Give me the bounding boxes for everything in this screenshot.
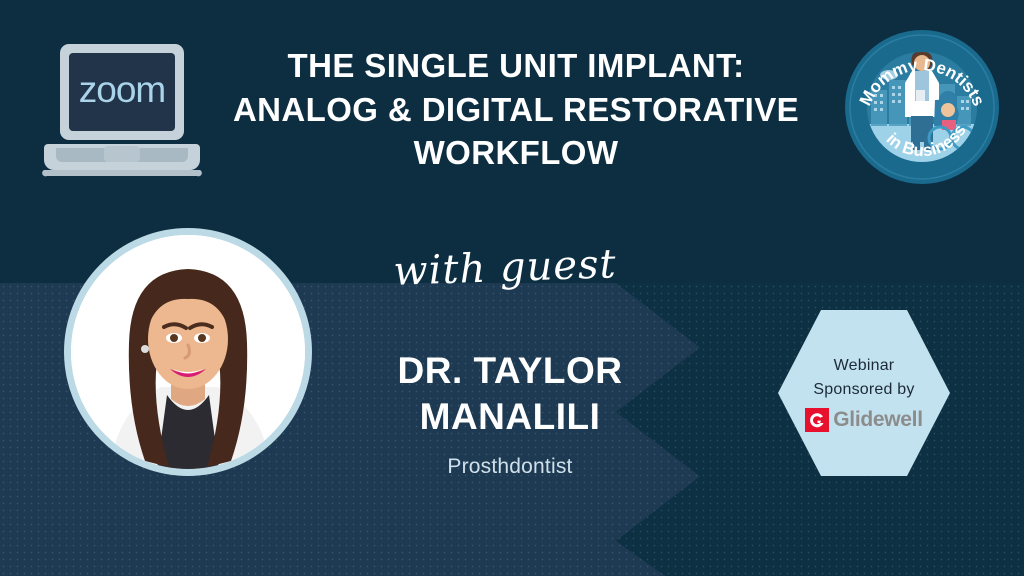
guest-name-line-2: MANALILI xyxy=(330,394,690,440)
page-title: THE SINGLE UNIT IMPLANT: ANALOG & DIGITA… xyxy=(196,44,836,175)
title-line-1: THE SINGLE UNIT IMPLANT: xyxy=(196,44,836,88)
glidewell-g-mark-icon xyxy=(805,408,829,432)
svg-text:zoom: zoom xyxy=(79,69,165,110)
mommy-dentists-in-business-logo: Mommy Dentists in Business xyxy=(843,28,1001,186)
guest-name-line-1: DR. TAYLOR xyxy=(330,348,690,394)
sponsor-line-1: Webinar xyxy=(834,354,895,377)
zoom-laptop-icon: zoom xyxy=(38,40,206,188)
guest-role: Prosthdontist xyxy=(330,455,690,479)
glidewell-logo: Glidewell xyxy=(805,408,923,432)
guest-name: DR. TAYLOR MANALILI xyxy=(330,348,690,440)
title-line-3: WORKFLOW xyxy=(196,131,836,175)
webinar-promo-slide: zoom THE SINGLE UNIT IMPLANT: ANALOG & D… xyxy=(0,0,1024,576)
sponsor-line-2: Sponsored by xyxy=(813,378,914,401)
guest-headshot xyxy=(64,228,312,476)
glidewell-wordmark: Glidewell xyxy=(833,408,923,432)
title-line-2: ANALOG & DIGITAL RESTORATIVE xyxy=(196,88,836,132)
